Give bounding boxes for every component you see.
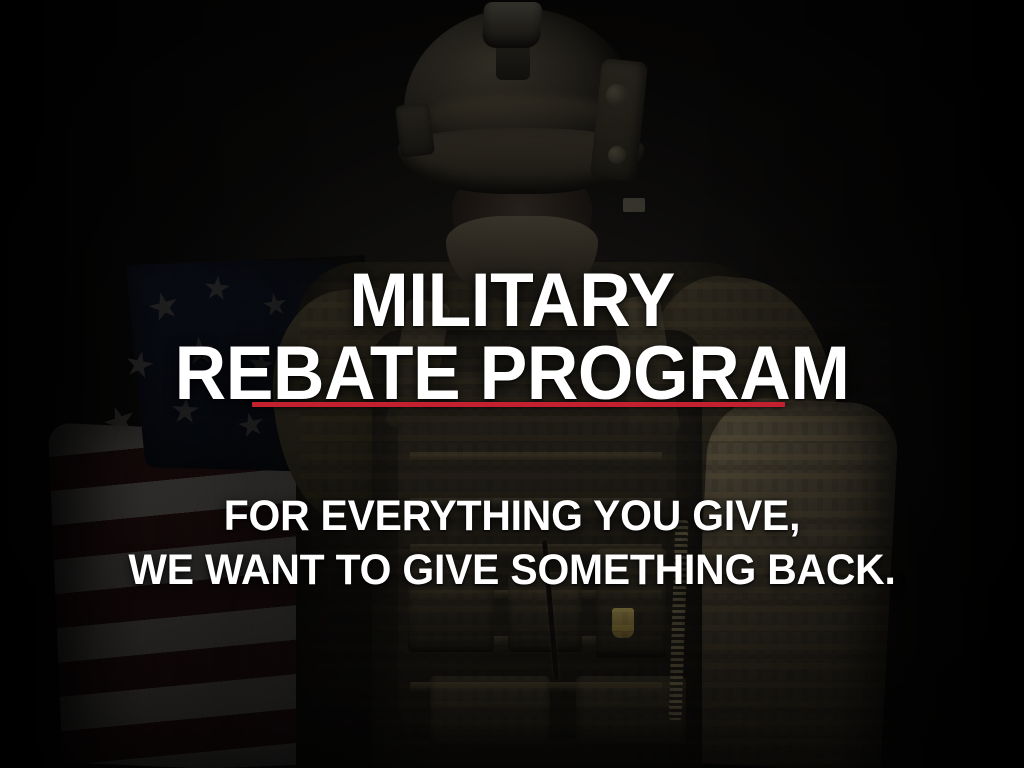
headline-line-2: REBATE PROGRAM — [31, 338, 994, 411]
tagline-line-2: WE WANT TO GIVE SOMETHING BACK. — [26, 543, 999, 597]
poster-content: MILITARY REBATE PROGRAM FOR EVERYTHING Y… — [0, 0, 1024, 768]
headline-line-1: MILITARY — [31, 265, 994, 338]
tagline-line-1: FOR EVERYTHING YOU GIVE, — [26, 489, 999, 543]
tagline: FOR EVERYTHING YOU GIVE, WE WANT TO GIVE… — [26, 489, 999, 597]
page-title: MILITARY REBATE PROGRAM — [31, 265, 994, 411]
red-divider-rule — [252, 402, 785, 407]
poster-canvas: MILITARY REBATE PROGRAM FOR EVERYTHING Y… — [0, 0, 1024, 768]
